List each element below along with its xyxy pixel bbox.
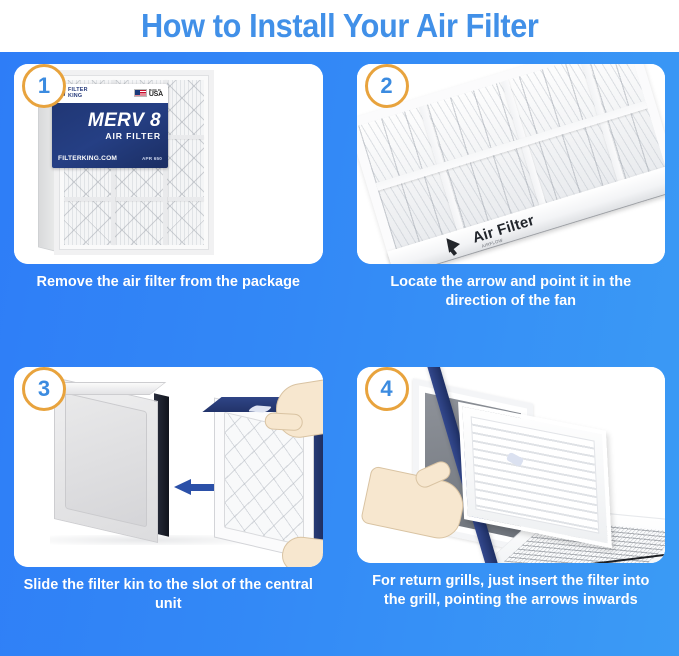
step-number-badge-2: 2 <box>365 64 409 108</box>
step-4-image-card: 4 <box>357 367 666 563</box>
grill-louvers <box>470 416 599 533</box>
step-card-4: 4 For return grills, just insert the fil… <box>343 355 679 656</box>
step-caption-3: Slide the filter kin to the slot of the … <box>20 576 316 615</box>
step-3-image-card: 3 <box>14 367 323 567</box>
apr-rating-text: APR 650 <box>142 156 162 161</box>
step-caption-4: For return grills, just insert the filte… <box>363 572 659 611</box>
step-caption-2: Locate the arrow and point it in the dir… <box>363 273 659 312</box>
page-title: How to Install Your Air Filter <box>141 7 539 45</box>
filter-type-text: AIR FILTER <box>52 131 161 141</box>
step-card-2: Air Filter AIRFLOW 2 Locate the arrow an… <box>343 52 679 353</box>
brand-name: FILTER KING <box>68 88 88 99</box>
steps-grid: FILTER KING MADE IN USA <box>0 52 679 656</box>
step-2-image-card: Air Filter AIRFLOW 2 <box>357 64 666 264</box>
step-number-badge-3: 3 <box>22 367 66 411</box>
arrow-head <box>174 479 191 495</box>
brand-line-2: KING <box>68 93 82 99</box>
step-card-1: FILTER KING MADE IN USA <box>0 52 337 353</box>
filter-support-wire <box>64 197 204 201</box>
central-unit-housing <box>54 381 176 533</box>
step-number-badge-4: 4 <box>365 367 409 411</box>
air-filter-object: FILTER KING MADE IN USA <box>38 70 214 258</box>
unit-inner-panel <box>65 393 147 528</box>
made-in-usa-badge: MADE IN USA <box>134 89 163 99</box>
made-in-usa-text: MADE IN USA <box>149 89 163 99</box>
step-caption-1: Remove the air filter from the package <box>20 273 316 292</box>
merv-rating-text: MERV 8 <box>52 110 161 132</box>
step-number-badge-1: 1 <box>22 64 66 108</box>
step-card-3: 3 Slide the filter kin to the slot of th… <box>0 355 337 656</box>
usa-flag-icon <box>134 89 147 97</box>
header-bar: How to Install Your Air Filter <box>0 0 679 52</box>
label-header-strip: FILTER KING MADE IN USA <box>52 84 168 103</box>
step-1-image-card: FILTER KING MADE IN USA <box>14 64 323 264</box>
country-text: USA <box>149 91 163 98</box>
infographic-page: How to Install Your Air Filter <box>0 0 679 656</box>
website-text: FILTERKING.COM <box>58 155 117 162</box>
label-footer-strip: FILTERKING.COM APR 650 <box>58 155 162 162</box>
unit-front-face <box>54 377 158 543</box>
product-label: FILTER KING MADE IN USA <box>52 84 168 168</box>
